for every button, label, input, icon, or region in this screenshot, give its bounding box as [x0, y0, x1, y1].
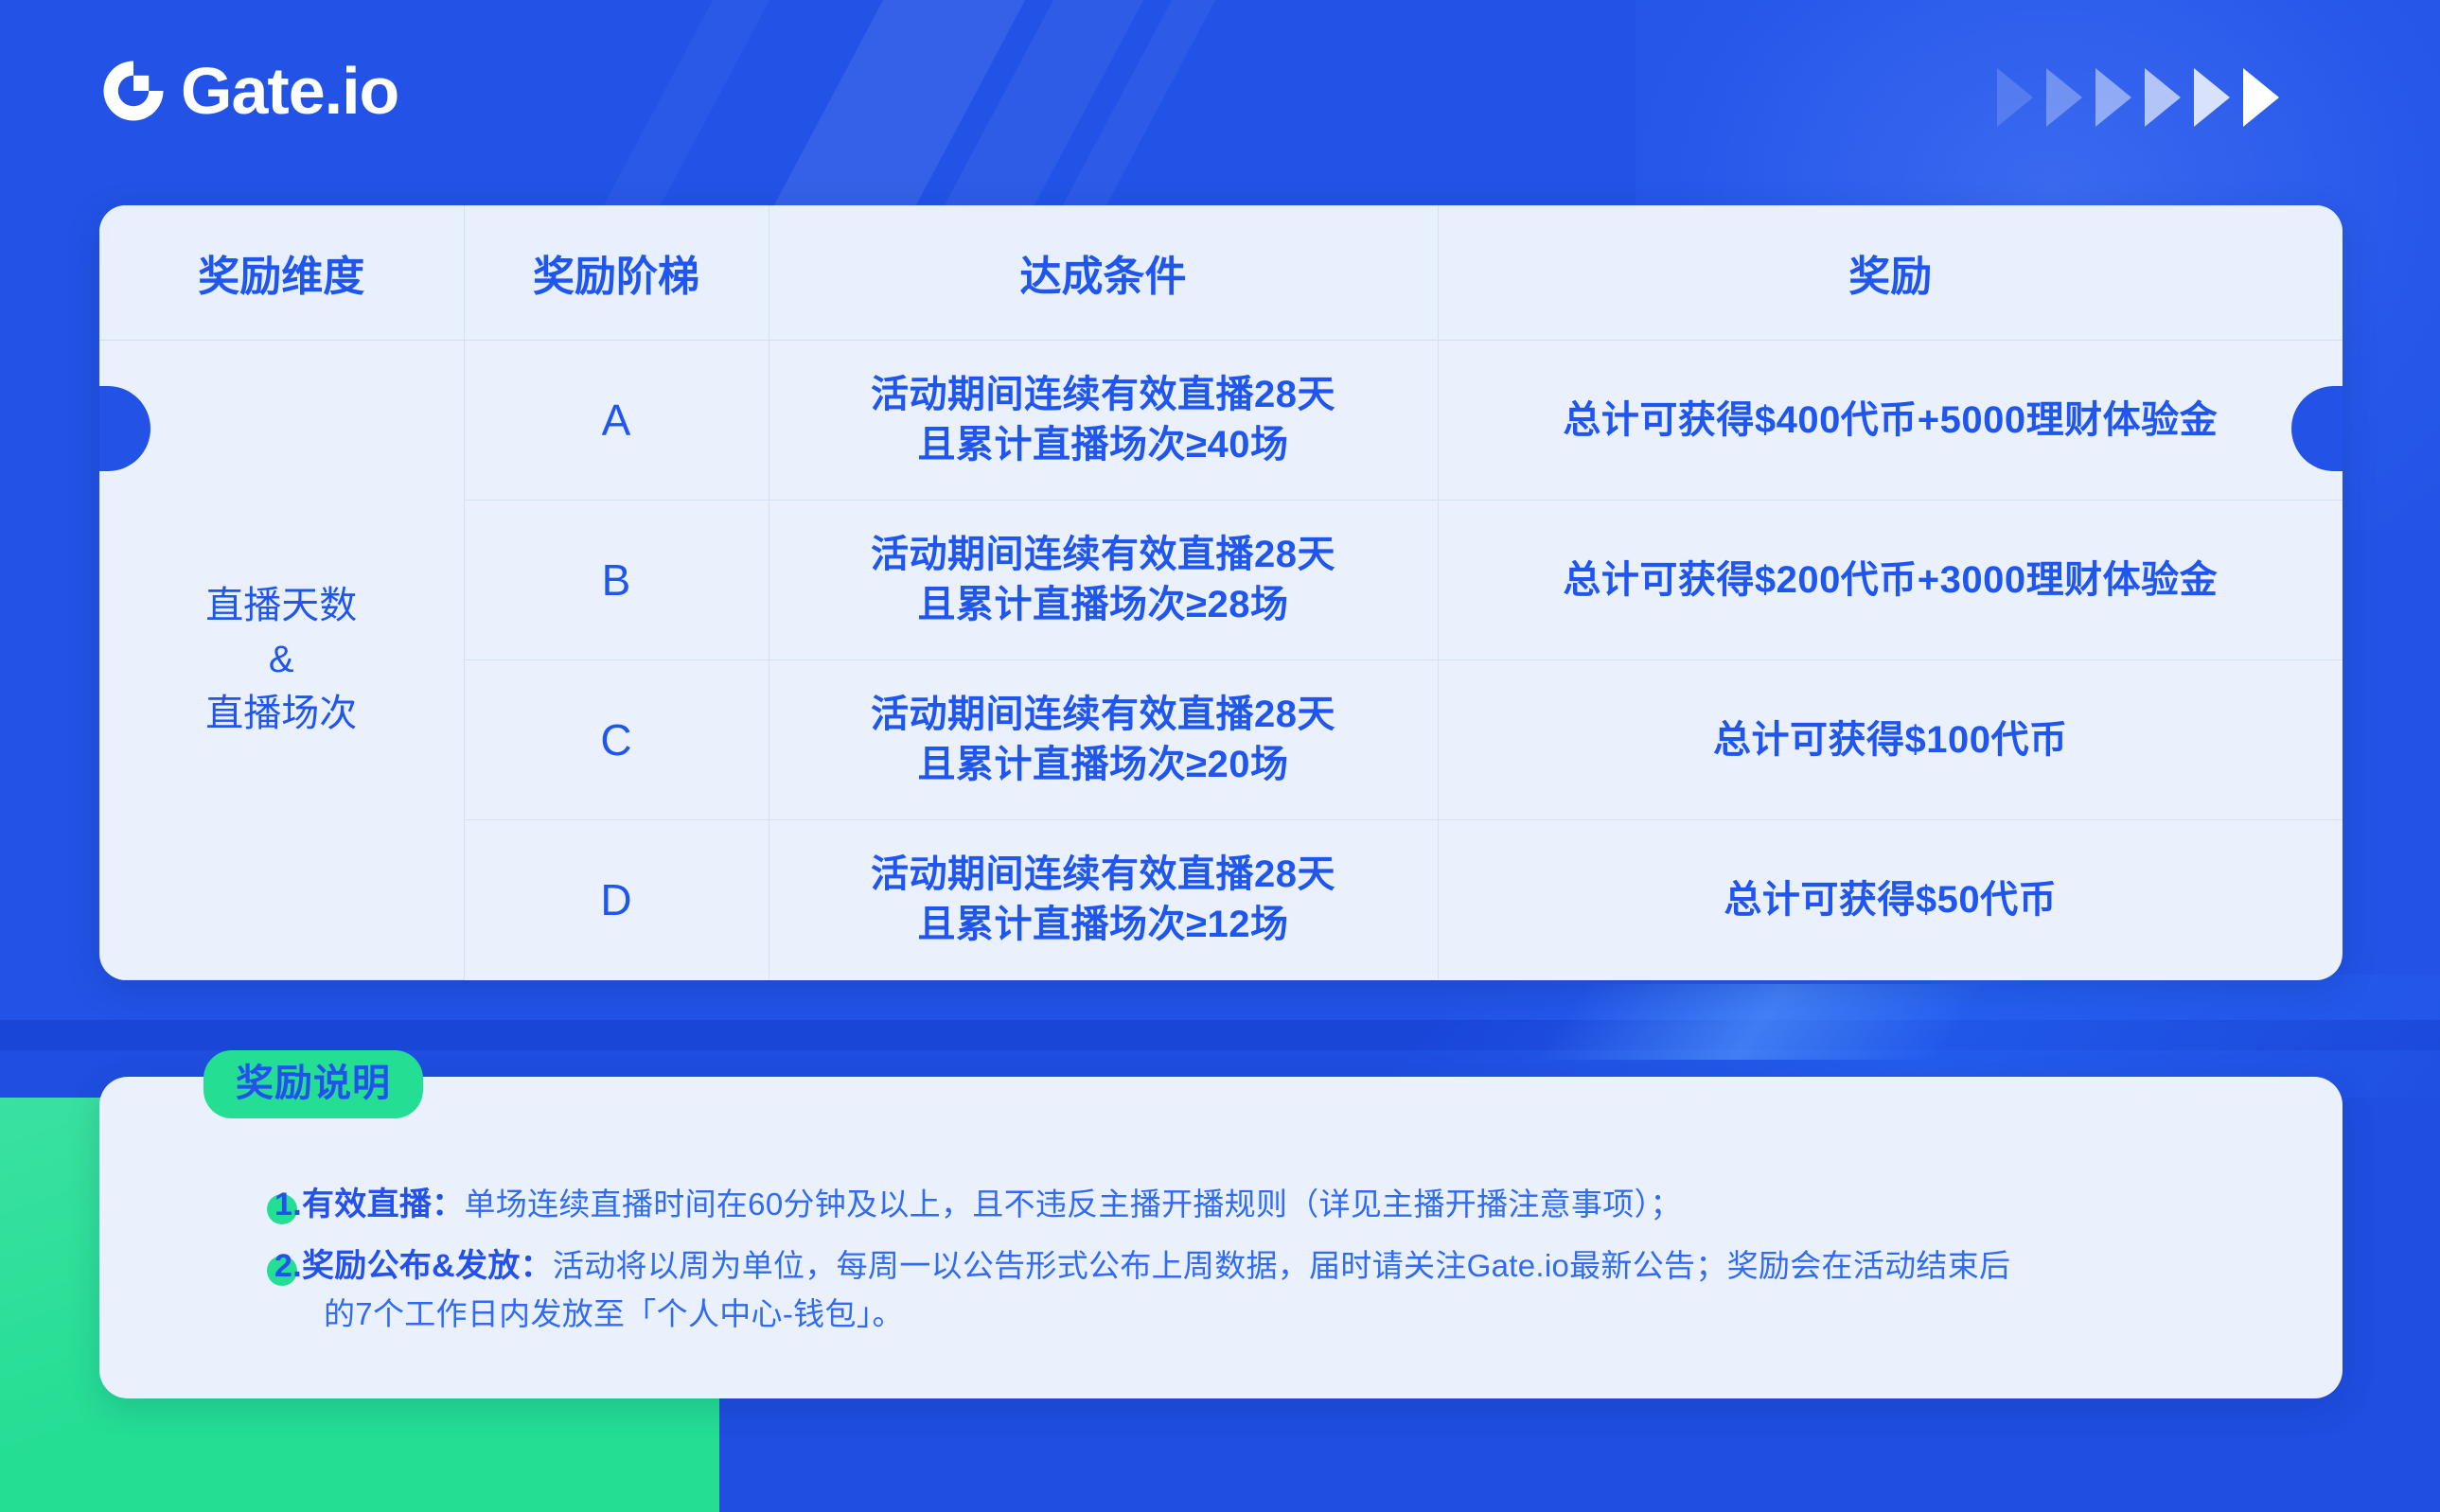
brand-logo-text: Gate.io — [181, 58, 398, 124]
note-key: 奖励公布&发放： — [302, 1248, 553, 1284]
arrow-decoration — [1997, 68, 2279, 127]
notes-badge: 奖励说明 — [203, 1050, 423, 1118]
cell-tier: A — [464, 341, 769, 501]
note-text-continued: 的7个工作日内发放至「个人中心-钱包」。 — [274, 1289, 2229, 1339]
cell-tier: C — [464, 660, 769, 820]
cell-dimension: 直播天数 & 直播场次 — [99, 341, 464, 980]
list-item: 2.奖励公布&发放：活动将以周为单位，每周一以公告形式公布上周数据，届时请关注G… — [274, 1240, 2229, 1340]
column-header-reward: 奖励 — [1438, 205, 2343, 341]
column-header-tier: 奖励阶梯 — [464, 205, 769, 341]
note-text: 单场连续直播时间在60分钟及以上，且不违反主播开播规则（详见主播开播注意事项）； — [464, 1187, 1681, 1222]
cell-reward: 总计可获得$50代币 — [1438, 820, 2343, 980]
cell-reward: 总计可获得$100代币 — [1438, 660, 2343, 820]
gate-logo-mark-icon — [99, 57, 168, 125]
cell-condition: 活动期间连续有效直播28天 且累计直播场次≥20场 — [769, 660, 1438, 820]
cell-reward: 总计可获得$200代币+3000理财体验金 — [1438, 501, 2343, 660]
cell-condition: 活动期间连续有效直播28天 且累计直播场次≥12场 — [769, 820, 1438, 980]
column-header-dimension: 奖励维度 — [99, 205, 464, 341]
chevron-right-triangle-icon — [2194, 68, 2230, 127]
chevron-right-triangle-icon — [2046, 68, 2082, 127]
cell-reward: 总计可获得$400代币+5000理财体验金 — [1438, 341, 2343, 501]
table-header-row: 奖励维度 奖励阶梯 达成条件 奖励 — [99, 205, 2343, 341]
reward-table: 奖励维度 奖励阶梯 达成条件 奖励 直播天数 & 直播场次 A 活动期间连续有效… — [99, 205, 2343, 980]
chevron-right-triangle-icon — [2243, 68, 2279, 127]
cell-tier: B — [464, 501, 769, 660]
notes-card: 奖励说明 1.有效直播：单场连续直播时间在60分钟及以上，且不违反主播开播规则（… — [99, 1077, 2343, 1398]
table-row: 直播天数 & 直播场次 A 活动期间连续有效直播28天 且累计直播场次≥40场 … — [99, 341, 2343, 501]
chevron-right-triangle-icon — [2145, 68, 2181, 127]
note-key: 有效直播： — [302, 1187, 465, 1222]
note-number: 2. — [274, 1248, 302, 1284]
promo-banner: Gate.io 奖励维度 奖励阶梯 达成条件 奖励 — [0, 0, 2440, 1512]
brand-logo: Gate.io — [99, 57, 398, 125]
cell-tier: D — [464, 820, 769, 980]
reward-table-card: 奖励维度 奖励阶梯 达成条件 奖励 直播天数 & 直播场次 A 活动期间连续有效… — [99, 205, 2343, 980]
note-text: 活动将以周为单位，每周一以公告形式公布上周数据，届时请关注Gate.io最新公告… — [553, 1248, 2010, 1283]
cell-condition: 活动期间连续有效直播28天 且累计直播场次≥28场 — [769, 501, 1438, 660]
notes-body: 1.有效直播：单场连续直播时间在60分钟及以上，且不违反主播开播规则（详见主播开… — [99, 1179, 2343, 1349]
chevron-right-triangle-icon — [1997, 68, 2033, 127]
note-number: 1. — [274, 1187, 302, 1222]
column-header-condition: 达成条件 — [769, 205, 1438, 341]
cell-condition: 活动期间连续有效直播28天 且累计直播场次≥40场 — [769, 341, 1438, 501]
banner-header: Gate.io — [0, 0, 2440, 189]
chevron-right-triangle-icon — [2095, 68, 2131, 127]
list-item: 1.有效直播：单场连续直播时间在60分钟及以上，且不违反主播开播规则（详见主播开… — [274, 1179, 2229, 1231]
